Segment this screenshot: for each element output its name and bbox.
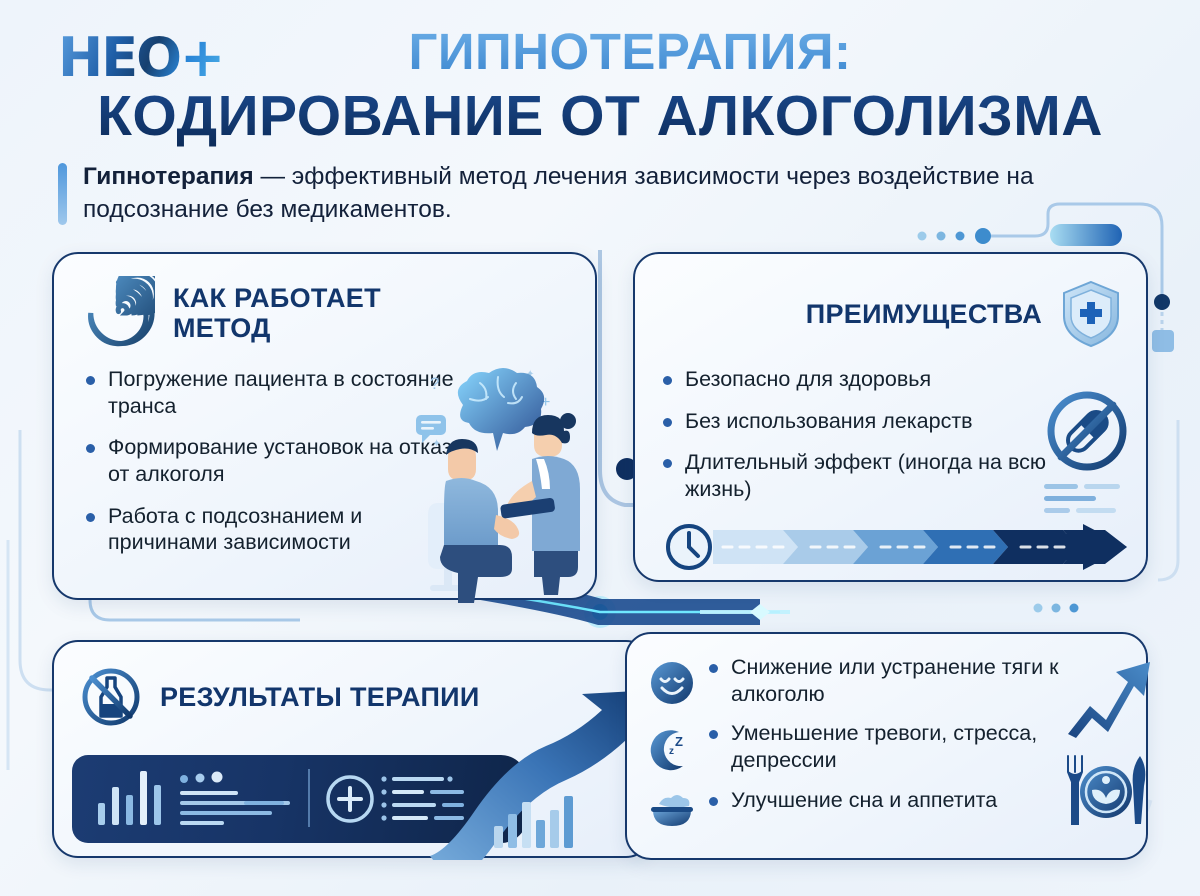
page-title-line2: КОДИРОВАНИЕ ОТ АЛКОГОЛИЗМА xyxy=(0,83,1200,149)
bullet-text: Безопасно для здоровья xyxy=(685,366,931,393)
bullet-dot xyxy=(86,513,95,522)
method-card-header: КАК РАБОТАЕТ МЕТОД xyxy=(82,276,482,350)
page-title-line1: ГИПНОТЕРАПИЯ: xyxy=(0,22,1200,81)
brain-icon xyxy=(458,368,544,451)
bullet-dot xyxy=(663,376,672,385)
bullet-dot xyxy=(709,730,718,739)
svg-text:✦: ✦ xyxy=(432,438,441,450)
advantages-card-header: ПРЕИМУЩЕСТВА xyxy=(806,280,1122,348)
growth-arrow-icon xyxy=(1066,648,1152,738)
svg-text:?: ? xyxy=(430,374,439,393)
subtitle-text: Гипнотерапия — эффективный метод лечения… xyxy=(83,160,1118,227)
list-item: Безопасно для здоровья xyxy=(663,366,1053,393)
no-alcohol-icon xyxy=(80,666,142,728)
subtitle: Гипнотерапия — эффективный метод лечения… xyxy=(58,160,1118,227)
shield-plus-icon xyxy=(1060,280,1122,348)
method-card-title: КАК РАБОТАЕТ МЕТОД xyxy=(173,283,482,343)
list-item: Без использования лекарств xyxy=(663,408,1053,435)
svg-text:z: z xyxy=(669,746,674,757)
food-bowl-icon xyxy=(649,788,695,834)
page-title: ГИПНОТЕРАПИЯ: КОДИРОВАНИЕ ОТ АЛКОГОЛИЗМА xyxy=(0,22,1200,149)
list-item: Снижение или устранение тяги к алкоголю xyxy=(709,654,1079,707)
results-card-header: РЕЗУЛЬТАТЫ ТЕРАПИИ xyxy=(80,666,480,728)
bullet-text: Снижение или устранение тяги к алкоголю xyxy=(731,654,1079,707)
subtitle-accent-bar xyxy=(58,163,67,225)
bullet-dot xyxy=(709,797,718,806)
svg-text:Z: Z xyxy=(675,734,683,749)
list-item: Улучшение сна и аппетита xyxy=(709,787,1079,814)
bullet-text: Улучшение сна и аппетита xyxy=(731,787,997,814)
bullet-dot xyxy=(663,459,672,468)
bullet-dot xyxy=(709,664,718,673)
bullet-text: Без использования лекарств xyxy=(685,408,973,435)
bar-chart-decoration xyxy=(490,790,610,850)
advantages-bullet-list: Безопасно для здоровья Без использования… xyxy=(663,366,1053,518)
healthy-meal-icon xyxy=(1060,752,1152,830)
list-item: Длительный эффект (иногда на всю жизнь) xyxy=(663,449,1053,502)
text-lines-decoration xyxy=(1044,482,1124,516)
page-header: НЕО+ ГИПНОТЕРАПИЯ: КОДИРОВАНИЕ ОТ АЛКОГО… xyxy=(0,0,1200,250)
bullet-text: Уменьшение тревоги, стресса, депрессии xyxy=(731,720,1079,773)
bullet-dot xyxy=(86,444,95,453)
calm-face-icon xyxy=(649,660,695,706)
bullet-dot xyxy=(663,418,672,427)
list-item: Уменьшение тревоги, стресса, депрессии xyxy=(709,720,1079,773)
no-pills-icon xyxy=(1044,388,1130,474)
outcomes-bullet-list: Снижение или устранение тяги к алкоголю … xyxy=(709,654,1079,826)
spiral-hypnosis-icon xyxy=(82,276,155,350)
therapy-session-illustration: ? + ✦ ✦ xyxy=(408,355,638,603)
subtitle-lead: Гипнотерапия xyxy=(83,163,254,190)
bullet-dot xyxy=(86,376,95,385)
speech-bubble-icon xyxy=(416,415,446,443)
duration-timeline-arrow xyxy=(665,520,1130,574)
bullet-text: Длительный эффект (иногда на всю жизнь) xyxy=(685,449,1053,502)
advantages-card-title: ПРЕИМУЩЕСТВА xyxy=(806,299,1042,329)
sleep-moon-icon: Z z xyxy=(649,726,695,772)
clock-icon xyxy=(668,526,710,568)
